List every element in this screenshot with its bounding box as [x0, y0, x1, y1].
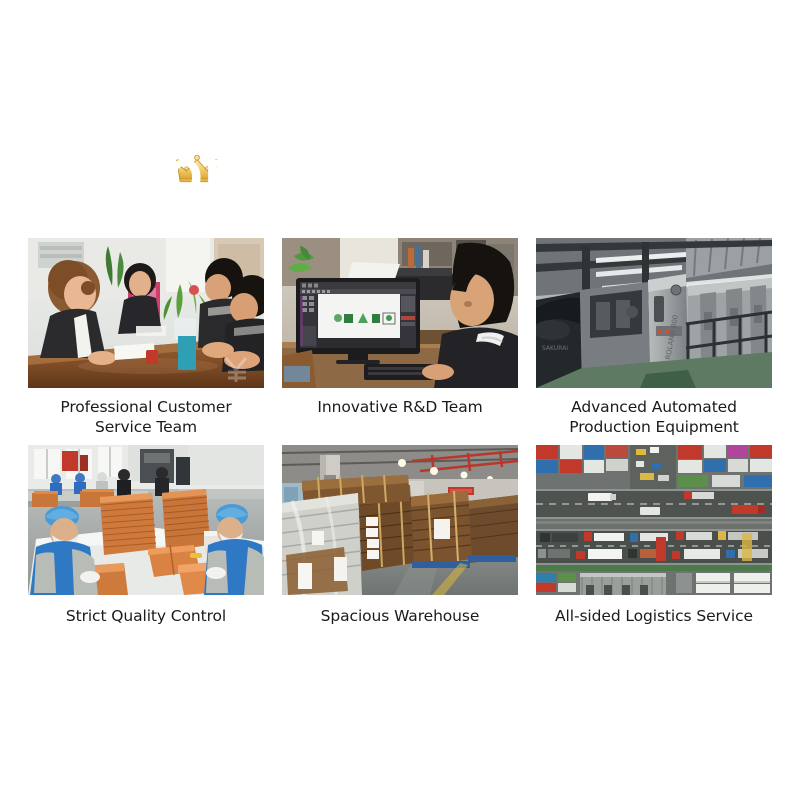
page-title-block: CORE COMPETENCES [0, 150, 800, 206]
svg-text:SAKURAI: SAKURAI [542, 345, 568, 352]
competence-grid: Professional Customer Service Team [28, 238, 772, 626]
competence-card-all-sided-logistics-service[interactable]: All-sided Logistics Service [536, 445, 772, 626]
page-title: CORE COMPETENCES [133, 150, 668, 206]
all-sided-logistics-service-photo [536, 445, 772, 595]
competence-card-advanced-automated-production-equipment[interactable]: SAKURAI ROLAND 800 [536, 238, 772, 437]
competence-card-professional-customer-service-team[interactable]: Professional Customer Service Team [28, 238, 264, 437]
spacious-warehouse-photo [282, 445, 518, 595]
competence-card-strict-quality-control[interactable]: Strict Quality Control [28, 445, 264, 626]
professional-customer-service-team-photo [28, 238, 264, 388]
innovative-rd-team-photo [282, 238, 518, 388]
core-competences-banner: CORE COMPETENCES [0, 0, 800, 800]
competence-caption: Strict Quality Control [28, 606, 264, 626]
strict-quality-control-photo [28, 445, 264, 595]
competence-caption: All-sided Logistics Service [536, 606, 772, 626]
competence-caption: Professional Customer Service Team [28, 397, 264, 437]
advanced-automated-production-equipment-photo: SAKURAI ROLAND 800 [536, 238, 772, 388]
competence-caption: Innovative R&D Team [282, 397, 518, 417]
competence-caption: Spacious Warehouse [282, 606, 518, 626]
competence-card-innovative-rd-team[interactable]: Innovative R&D Team [282, 238, 518, 437]
competence-caption: Advanced Automated Production Equipment [536, 397, 772, 437]
competence-card-spacious-warehouse[interactable]: Spacious Warehouse [282, 445, 518, 626]
